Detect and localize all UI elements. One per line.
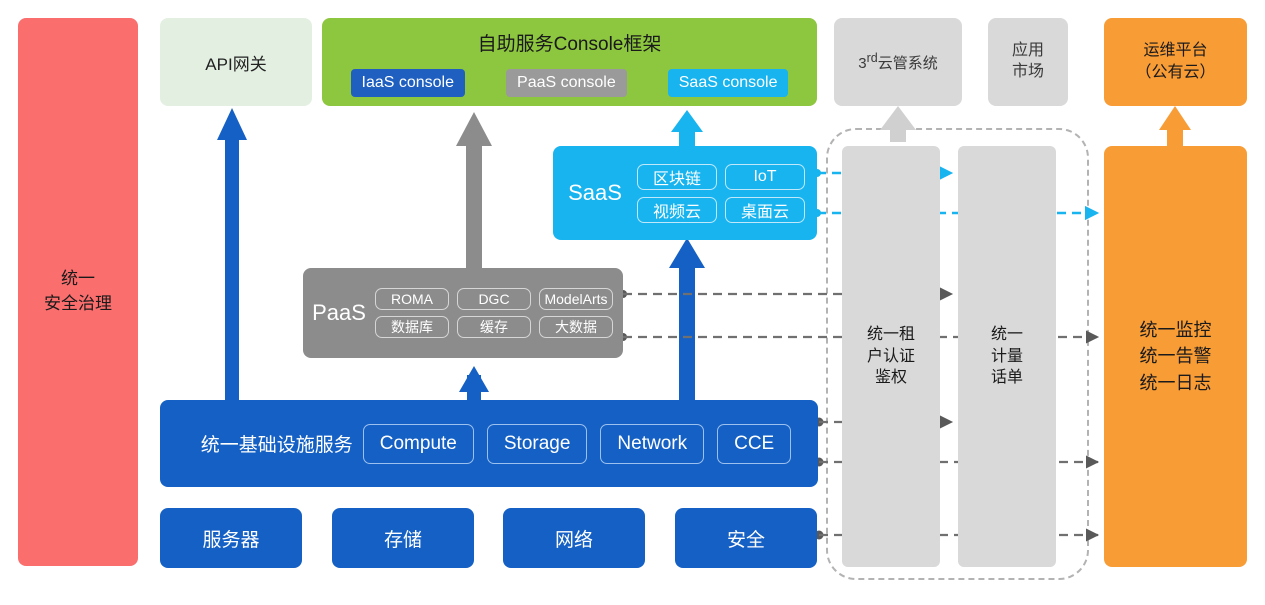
paas-service-database[interactable]: 数据库 <box>375 316 449 338</box>
metering-line-2: 计量 <box>991 346 1023 368</box>
hardware-storage-label: 存储 <box>384 525 422 552</box>
arrow-ops-right-to-ops-platform <box>1159 106 1191 148</box>
infra-chip-cce[interactable]: CCE <box>717 424 791 464</box>
paas-service-dgc[interactable]: DGC <box>457 288 531 310</box>
metering-line-3: 话单 <box>991 367 1023 389</box>
console-chip-row: IaaS console PaaS console SaaS console <box>322 64 817 102</box>
paas-service-roma[interactable]: ROMA <box>375 288 449 310</box>
hardware-network-label: 网络 <box>555 525 593 552</box>
unified-infrastructure-bar[interactable]: 统一基础设施服务 Compute Storage Network CCE <box>160 400 818 487</box>
ops-right-line-1: 统一监控 <box>1140 317 1212 343</box>
console-framework-title: 自助服务Console框架 <box>322 18 817 66</box>
auth-line-1: 统一租 <box>867 324 915 346</box>
infra-chip-compute[interactable]: Compute <box>363 424 474 464</box>
hardware-server-label: 服务器 <box>202 525 259 552</box>
chip-iaas-console[interactable]: IaaS console <box>351 69 466 97</box>
third-cloud-sup: rd <box>867 51 878 65</box>
app-market-box[interactable]: 应用 市场 <box>988 18 1068 106</box>
third-cloud-prefix: 3 <box>858 55 866 72</box>
hardware-network-box[interactable]: 网络 <box>503 508 645 568</box>
ops-platform-public-cloud-box[interactable]: 运维平台 （公有云） <box>1104 18 1247 106</box>
chip-paas-console[interactable]: PaaS console <box>506 69 627 97</box>
auth-line-3: 鉴权 <box>867 367 915 389</box>
auth-line-2: 户认证 <box>867 346 915 368</box>
infra-chip-network[interactable]: Network <box>600 424 704 464</box>
app-market-line-2: 市场 <box>1012 62 1044 83</box>
third-party-cloud-management-box[interactable]: 3rd云管系统 <box>834 18 962 106</box>
third-cloud-label: 3rd云管系统 <box>858 51 937 73</box>
paas-layer-block[interactable]: PaaS ROMA DGC ModelArts 数据库 缓存 大数据 <box>303 268 623 358</box>
hardware-security-label: 安全 <box>727 525 765 552</box>
unified-security-governance-panel[interactable]: 统一 安全治理 <box>18 18 138 566</box>
api-gateway-box[interactable]: API网关 <box>160 18 312 106</box>
paas-service-cache[interactable]: 缓存 <box>457 316 531 338</box>
security-line-2: 安全治理 <box>44 292 112 317</box>
infra-chip-storage[interactable]: Storage <box>487 424 588 464</box>
unified-monitoring-panel[interactable]: 统一监控 统一告警 统一日志 <box>1104 146 1247 567</box>
metering-line-1: 统一 <box>991 324 1023 346</box>
unified-metering-billing-column[interactable]: 统一 计量 话单 <box>958 146 1056 567</box>
saas-service-desktop-cloud[interactable]: 桌面云 <box>725 197 805 223</box>
chip-saas-console[interactable]: SaaS console <box>668 69 789 97</box>
api-gateway-label: API网关 <box>205 50 266 75</box>
saas-layer-block[interactable]: SaaS 区块链 IoT 视频云 桌面云 <box>553 146 817 240</box>
app-market-line-1: 应用 <box>1012 41 1044 62</box>
infrastructure-chip-row: Compute Storage Network CCE <box>363 424 791 464</box>
third-cloud-suffix: 云管系统 <box>878 55 938 72</box>
hardware-security-box[interactable]: 安全 <box>675 508 817 568</box>
saas-service-grid: 区块链 IoT 视频云 桌面云 <box>637 154 817 233</box>
security-line-1: 统一 <box>44 267 112 292</box>
arrow-infra-to-paas <box>459 366 489 403</box>
saas-service-blockchain[interactable]: 区块链 <box>637 164 717 190</box>
ops-platform-line-2: （公有云） <box>1135 62 1215 84</box>
saas-layer-label: SaaS <box>553 180 637 206</box>
architecture-diagram: 统一 安全治理 API网关 自助服务Console框架 IaaS console… <box>0 0 1265 605</box>
arrow-infra-to-saas <box>669 238 705 402</box>
saas-service-video-cloud[interactable]: 视频云 <box>637 197 717 223</box>
self-service-console-framework[interactable]: 自助服务Console框架 IaaS console PaaS console … <box>322 18 817 106</box>
paas-service-bigdata[interactable]: 大数据 <box>539 316 613 338</box>
paas-service-grid: ROMA DGC ModelArts 数据库 缓存 大数据 <box>375 279 623 347</box>
ops-platform-line-1: 运维平台 <box>1135 40 1215 62</box>
hardware-server-box[interactable]: 服务器 <box>160 508 302 568</box>
ops-right-line-2: 统一告警 <box>1140 343 1212 369</box>
arrow-infra-to-api-gateway <box>217 108 247 402</box>
saas-service-iot[interactable]: IoT <box>725 164 805 190</box>
paas-service-modelarts[interactable]: ModelArts <box>539 288 613 310</box>
hardware-storage-box[interactable]: 存储 <box>332 508 474 568</box>
unified-tenant-auth-column[interactable]: 统一租 户认证 鉴权 <box>842 146 940 567</box>
paas-layer-label: PaaS <box>303 300 375 326</box>
unified-infrastructure-label: 统一基础设施服务 <box>201 430 353 457</box>
arrow-saas-to-saas-console <box>671 110 703 148</box>
arrow-paas-to-console <box>456 112 492 268</box>
ops-right-line-3: 统一日志 <box>1140 370 1212 396</box>
